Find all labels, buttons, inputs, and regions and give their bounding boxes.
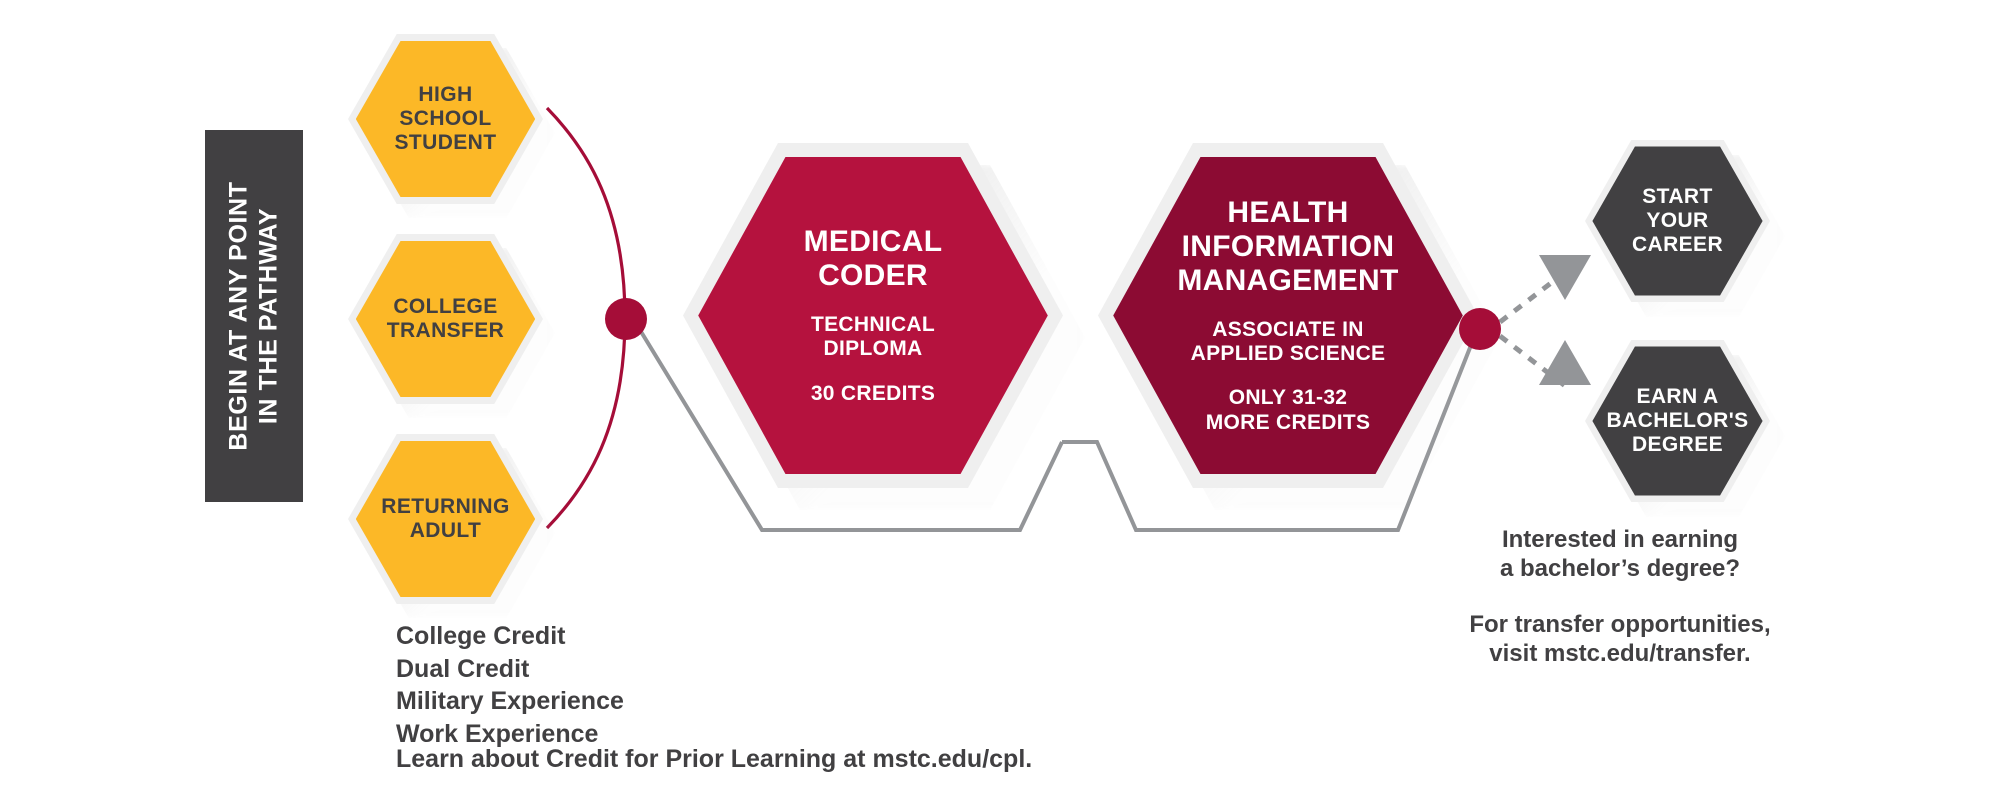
program-credits: ONLY 31-32 MORE CREDITS [1206,386,1371,435]
outcome-hex-label: START YOUR CAREER [1632,185,1723,256]
program-credits: 30 CREDITS [811,382,935,406]
program-title: MEDICAL CODER [804,225,943,293]
banner-label: BEGIN AT ANY POINT IN THE PATHWAY [225,130,284,502]
begin-anywhere-banner: BEGIN AT ANY POINT IN THE PATHWAY [205,130,303,502]
junction-dot-right [1459,308,1501,350]
credit-for-prior-learning-list: College Credit Dual Credit Military Expe… [396,620,624,750]
arrow-triangle-up-icon [1539,255,1591,300]
transfer-note: Interested in earning a bachelor’s degre… [1440,525,1800,668]
entry-hex-label: COLLEGE TRANSFER [387,295,505,342]
transfer-question: Interested in earning a bachelor’s degre… [1440,525,1800,584]
outcome-hex-label: EARN A BACHELOR'S DEGREE [1607,385,1749,456]
credit-for-prior-learning-link[interactable]: Learn about Credit for Prior Learning at… [396,745,1032,774]
arrow-triangle-down-icon [1539,340,1591,385]
transfer-detail[interactable]: For transfer opportunities, visit mstc.e… [1440,610,1800,669]
entry-hex-label: RETURNING ADULT [381,495,509,542]
entry-hex-label: HIGH SCHOOL STUDENT [395,83,497,154]
program-credential: ASSOCIATE IN APPLIED SCIENCE [1191,318,1386,367]
program-credential: TECHNICAL DIPLOMA [811,313,935,362]
junction-dot-left [605,298,647,340]
pathway-diagram: BEGIN AT ANY POINT IN THE PATHWAY HIGH S… [0,0,2000,800]
program-title: HEALTH INFORMATION MANAGEMENT [1177,196,1398,298]
